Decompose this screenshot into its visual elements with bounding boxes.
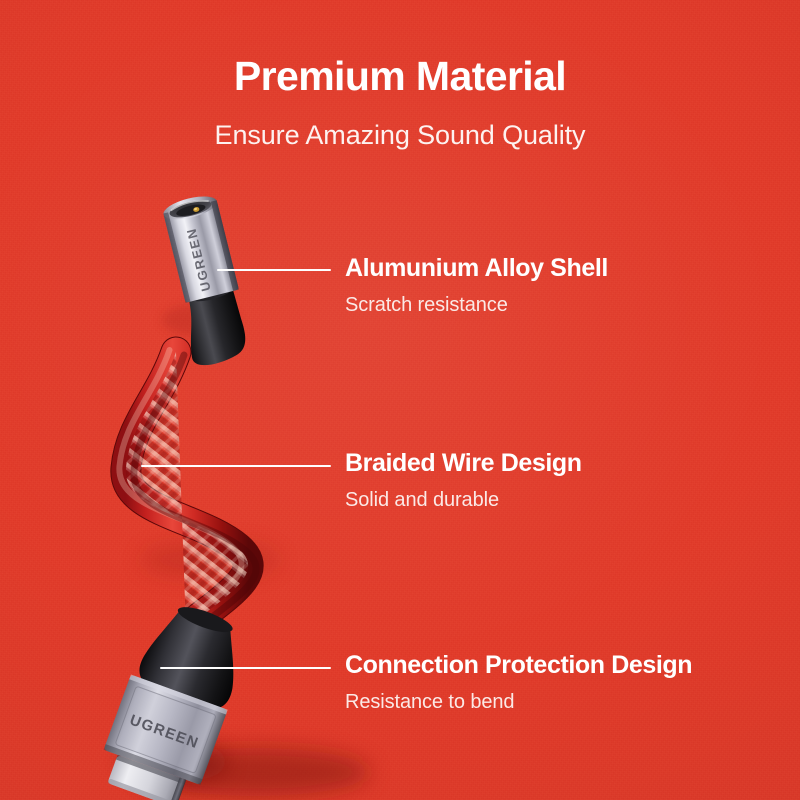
leader-line-3: [160, 667, 331, 669]
callout-connection-protection-design: Connection Protection Design Resistance …: [345, 652, 692, 713]
callout-subtitle: Scratch resistance: [345, 283, 608, 316]
callout-aluminium-alloy-shell: Alumunium Alloy Shell Scratch resistance: [345, 255, 608, 316]
leader-line-2: [141, 465, 331, 467]
callout-title: Alumunium Alloy Shell: [345, 255, 608, 283]
page-subtitle: Ensure Amazing Sound Quality: [0, 98, 800, 151]
product-feature-graphic: UGREEN UGREEN Premi: [0, 0, 800, 800]
callout-title: Braided Wire Design: [345, 450, 582, 478]
callout-braided-wire-design: Braided Wire Design Solid and durable: [345, 450, 582, 511]
leader-line-1: [217, 269, 331, 271]
callout-subtitle: Solid and durable: [345, 478, 582, 511]
callout-subtitle: Resistance to bend: [345, 680, 692, 713]
header-block: Premium Material Ensure Amazing Sound Qu…: [0, 54, 800, 151]
callout-title: Connection Protection Design: [345, 652, 692, 680]
page-title: Premium Material: [0, 54, 800, 98]
